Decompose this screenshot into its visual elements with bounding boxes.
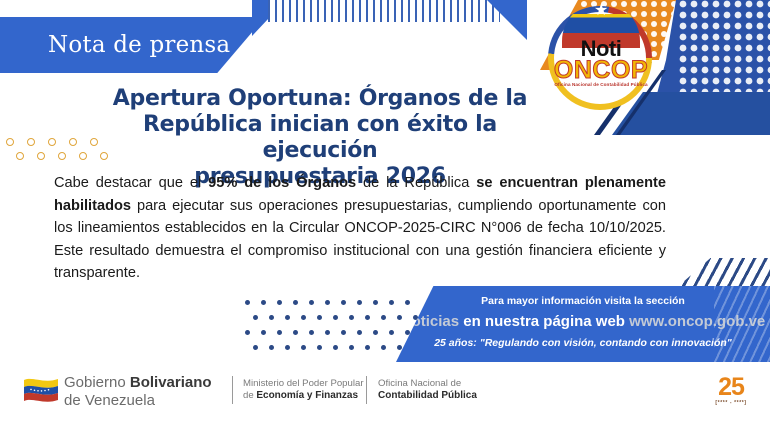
press-release-canvas: Nota de prensa ★ Noti ONCOP Oficina Naci… — [0, 0, 770, 440]
navy-dot — [365, 345, 370, 350]
gold-dot — [16, 152, 24, 160]
gold-dot — [90, 138, 98, 146]
navy-dot — [317, 315, 322, 320]
navy-dot — [397, 345, 402, 350]
bolivariano-word: Bolivariano — [130, 374, 212, 391]
footer-divider-1 — [232, 376, 233, 404]
gold-dot — [6, 138, 14, 146]
navy-dot — [357, 330, 362, 335]
navy-dot — [397, 315, 402, 320]
info-line-1: Para mayor información visita la sección — [396, 295, 770, 307]
panel-top-hatch-decoration — [674, 258, 770, 290]
ministry-line-1: Ministerio del Poder Popular — [243, 378, 364, 390]
gold-dot — [27, 138, 35, 146]
headline-line-1: Apertura Oportuna: Órganos de la — [85, 86, 555, 112]
gold-dot — [79, 152, 87, 160]
navy-dot — [253, 315, 258, 320]
navy-dot — [269, 345, 274, 350]
ministry-label: Ministerio del Poder Popular de Economía… — [243, 378, 364, 402]
navy-dot — [301, 315, 306, 320]
navy-dot — [301, 345, 306, 350]
office-name: Contabilidad Pública — [378, 390, 477, 401]
anniversary-digits: 25 — [718, 373, 744, 401]
gold-dot — [48, 138, 56, 146]
star-icon: ★ — [594, 3, 608, 19]
body-segment-2: de la República — [356, 175, 476, 191]
anniversary-number: 25 — [700, 374, 762, 400]
navy-dot — [349, 345, 354, 350]
navy-dot — [373, 330, 378, 335]
navy-dot — [277, 330, 282, 335]
navy-dot — [389, 300, 394, 305]
navy-dot — [365, 315, 370, 320]
body-paragraph: Cabe destacar que el 95% de los Órganos … — [54, 172, 666, 285]
top-hatch-stripes — [268, 0, 500, 22]
noti-oncop-logo: ★ Noti ONCOP Oficina Nacional de Contabi… — [540, 2, 662, 114]
info-line-2: Noticias en nuestra página web www.oncop… — [396, 313, 770, 330]
navy-dot — [373, 300, 378, 305]
logo-oncop-text: ONCOP — [540, 56, 662, 85]
gold-dot — [100, 152, 108, 160]
navy-dot — [333, 315, 338, 320]
navy-dot — [325, 330, 330, 335]
navy-dot — [317, 345, 322, 350]
navy-dot — [325, 300, 330, 305]
footer-bar: Gobierno Bolivariano de Venezuela Minist… — [0, 368, 770, 440]
navy-dot — [253, 345, 258, 350]
gold-dot — [58, 152, 66, 160]
navy-dot — [341, 300, 346, 305]
navy-dot — [389, 330, 394, 335]
gold-dot-decoration — [6, 138, 116, 168]
navy-dot — [333, 345, 338, 350]
government-line-1: Gobierno Bolivariano — [64, 374, 212, 392]
nota-de-prensa-banner: Nota de prensa — [0, 17, 265, 73]
gold-dot — [69, 138, 77, 146]
footer-divider-2 — [366, 376, 367, 404]
ministry-line-2: de Economía y Finanzas — [243, 390, 364, 402]
body-bold-1: 95% de los Órganos — [208, 175, 356, 191]
gold-dot — [37, 152, 45, 160]
info-website-link[interactable]: www.oncop.gob.ve — [629, 313, 765, 330]
navy-dot — [405, 300, 410, 305]
office-line-1: Oficina Nacional de — [378, 378, 477, 390]
navy-dot — [341, 330, 346, 335]
headline-line-2: República inician con éxito la ejecución — [85, 112, 555, 164]
anniversary-years: [**** - ****] — [700, 400, 762, 406]
government-line-2: de Venezuela — [64, 392, 212, 410]
nota-de-prensa-label: Nota de prensa — [48, 32, 230, 58]
info-middle-label: en nuestra página web — [459, 313, 629, 330]
ministry-name: Economía y Finanzas — [256, 390, 358, 401]
navy-dot — [405, 330, 410, 335]
contact-info-panel: Para mayor información visita la sección… — [396, 286, 770, 362]
navy-dot — [293, 330, 298, 335]
navy-dot — [261, 330, 266, 335]
navy-dot — [309, 300, 314, 305]
body-segment-1: Cabe destacar que el — [54, 175, 208, 191]
navy-dot — [285, 345, 290, 350]
navy-dot — [381, 345, 386, 350]
body-segment-3: para ejecutar sus operaciones presupuest… — [54, 198, 666, 282]
gobierno-word: Gobierno — [64, 374, 130, 391]
navy-dot — [245, 330, 250, 335]
anniversary-logo: 25 [**** - ****] — [700, 374, 762, 414]
office-label: Oficina Nacional de Contabilidad Pública — [378, 378, 477, 402]
navy-dot — [381, 315, 386, 320]
navy-dot — [309, 330, 314, 335]
navy-dot — [261, 300, 266, 305]
navy-dot — [277, 300, 282, 305]
logo-subtitle-text: Oficina Nacional de Contabilidad Pública — [540, 82, 662, 87]
navy-dot — [285, 315, 290, 320]
info-slogan: 25 años: "Regulando con visión, contando… — [396, 337, 770, 349]
venezuela-flag-icon — [22, 376, 60, 402]
navy-dot — [245, 300, 250, 305]
office-line-2: Contabilidad Pública — [378, 390, 477, 402]
navy-dot — [349, 315, 354, 320]
ministry-de-word: de — [243, 390, 256, 401]
government-label: Gobierno Bolivariano de Venezuela — [64, 374, 212, 409]
navy-dot — [269, 315, 274, 320]
navy-dot — [293, 300, 298, 305]
navy-dot — [357, 300, 362, 305]
